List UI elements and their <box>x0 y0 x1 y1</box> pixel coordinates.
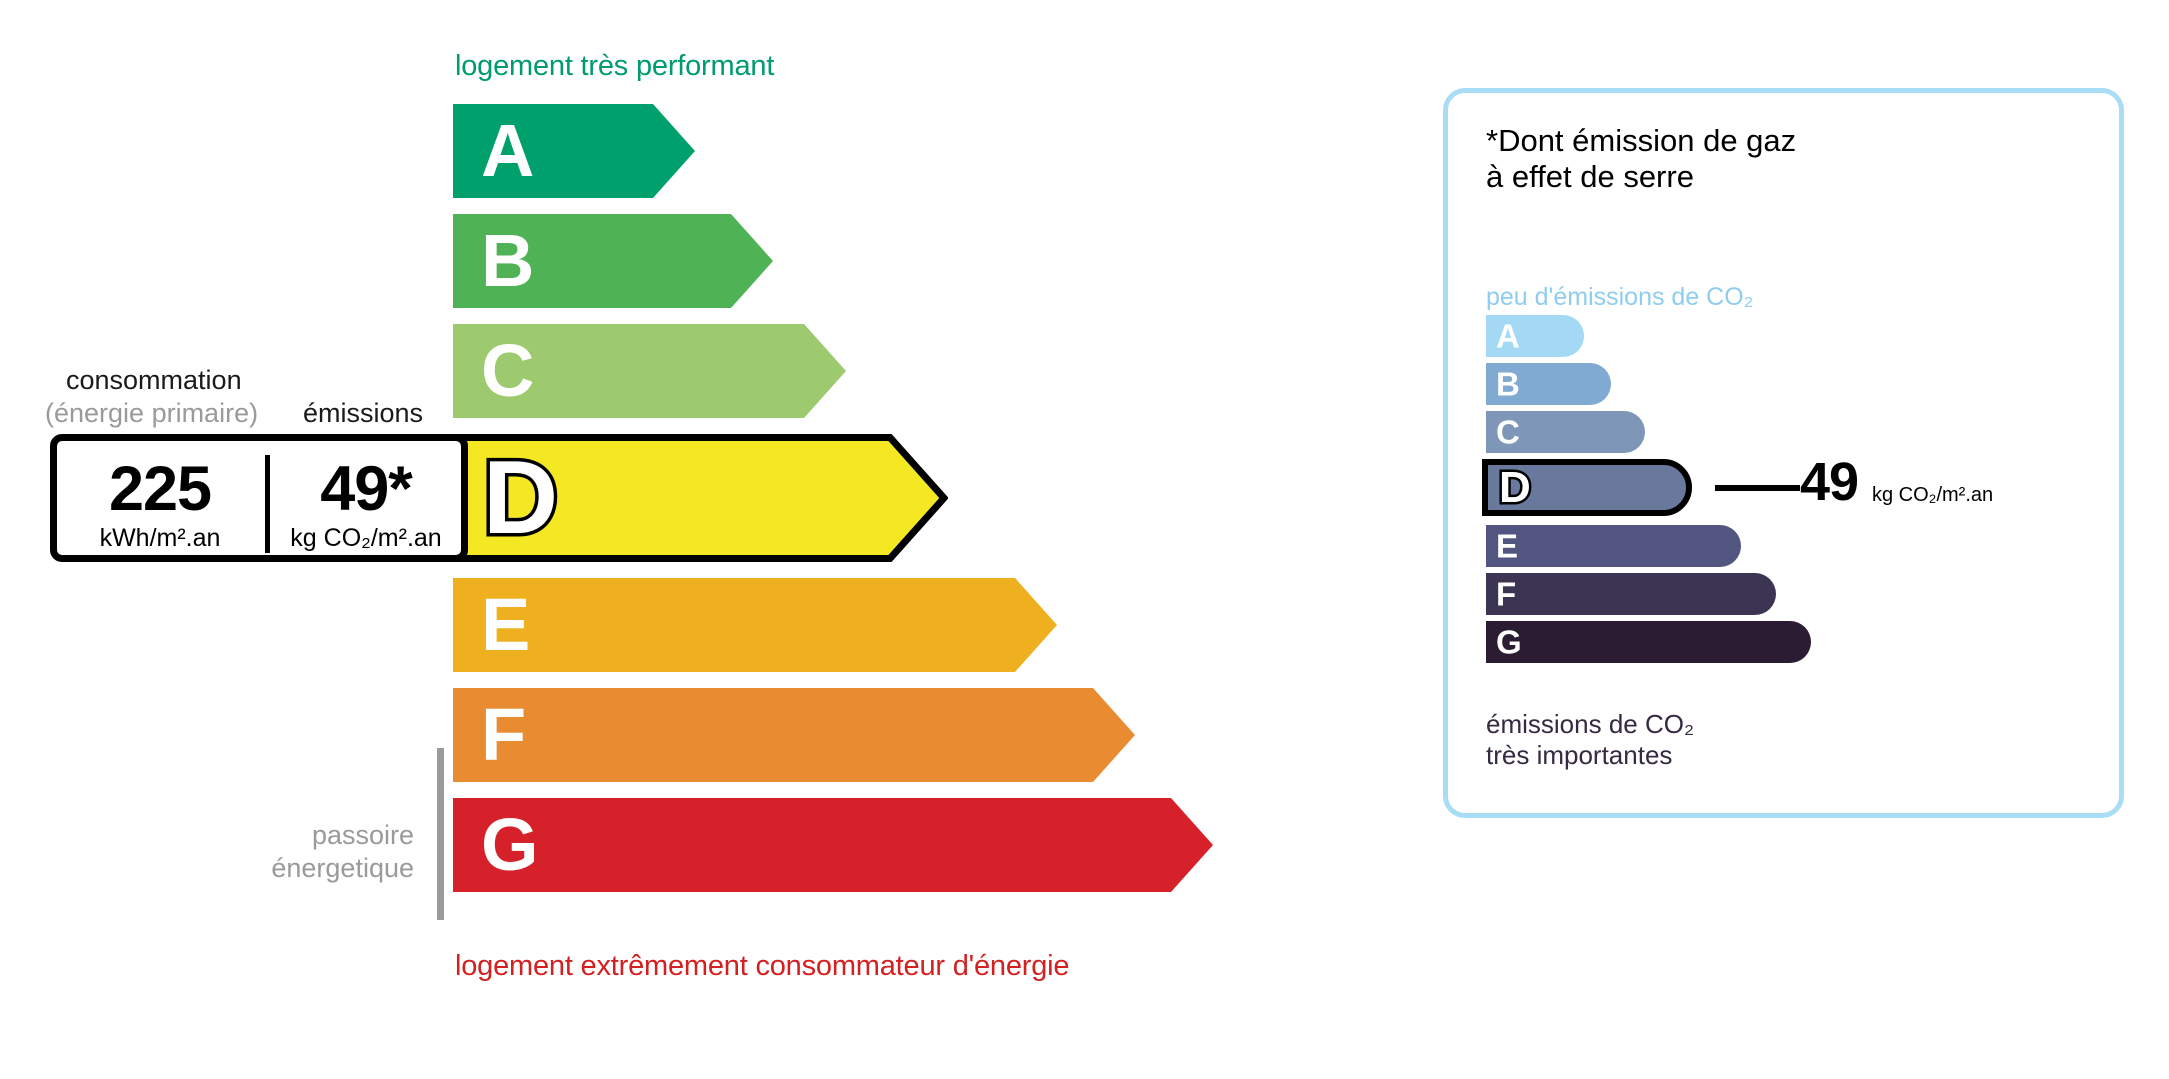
emission-unit: kg CO₂/m².an <box>269 524 463 553</box>
energy-band-b[interactable]: B <box>453 214 773 308</box>
co2-bottom-caption: émissions de CO₂ très importantes <box>1486 709 1694 770</box>
ladder-top-caption: logement très performant <box>455 50 774 83</box>
band-arrow-c-icon <box>453 324 846 418</box>
consumption-value: 225 <box>63 457 257 523</box>
consumption-unit: kWh/m².an <box>63 524 257 553</box>
passoire-bracket <box>437 748 444 920</box>
consumption-value-cell: 225 kWh/m².an <box>63 457 257 553</box>
co2-band-c[interactable]: C <box>1486 411 1645 453</box>
co2-emissions-panel: *Dont émission de gaz à effet de serre p… <box>1443 88 2124 818</box>
co2-band-d-selected[interactable]: D <box>1482 459 1692 516</box>
band-arrow-g-icon <box>453 798 1213 892</box>
energy-band-c[interactable]: C <box>453 324 846 418</box>
co2-band-a[interactable]: A <box>1486 315 1584 357</box>
band-arrow-a-icon <box>453 104 695 198</box>
label-emissions: émissions <box>303 398 423 429</box>
energy-band-f[interactable]: F <box>453 688 1135 782</box>
co2-band-letter-b: B <box>1496 368 1520 401</box>
ladder-bottom-caption: logement extrêmement consommateur d'éner… <box>455 950 1069 983</box>
co2-panel-title: *Dont émission de gaz à effet de serre <box>1486 123 1796 195</box>
co2-band-letter-f: F <box>1496 578 1516 611</box>
band-arrow-b-icon <box>453 214 773 308</box>
co2-band-b[interactable]: B <box>1486 363 1611 405</box>
emission-value: 49* <box>269 457 463 523</box>
energy-band-e[interactable]: E <box>453 578 1057 672</box>
co2-band-letter-g: G <box>1496 626 1522 659</box>
emission-value-cell: 49* kg CO₂/m².an <box>269 457 463 553</box>
co2-callout-leader-line <box>1715 485 1800 491</box>
label-energie-primaire: (énergie primaire) <box>45 398 258 429</box>
band-arrow-f-icon <box>453 688 1135 782</box>
passoire-label-line1: passoire <box>0 820 414 851</box>
band-arrow-e-icon <box>453 578 1057 672</box>
dpe-energy-ladder: logement très performant A B C D E <box>0 0 1380 1079</box>
label-consommation: consommation <box>66 365 242 396</box>
energy-band-a[interactable]: A <box>453 104 695 198</box>
co2-band-letter-e: E <box>1496 530 1518 563</box>
co2-band-e[interactable]: E <box>1486 525 1741 567</box>
co2-top-caption: peu d'émissions de CO₂ <box>1486 283 1753 312</box>
co2-band-letter-c: C <box>1496 416 1520 449</box>
band-arrow-d-icon <box>453 434 948 562</box>
energy-band-g[interactable]: G <box>453 798 1213 892</box>
passoire-label-line2: énergetique <box>0 853 414 884</box>
co2-band-letter-d: D <box>1499 466 1531 510</box>
dpe-value-box: 225 kWh/m².an 49* kg CO₂/m².an <box>50 434 468 562</box>
energy-band-d-selected[interactable]: D <box>453 434 948 562</box>
co2-band-f[interactable]: F <box>1486 573 1776 615</box>
co2-band-letter-a: A <box>1496 320 1520 353</box>
co2-band-g[interactable]: G <box>1486 621 1811 663</box>
co2-callout-value: 49 <box>1800 455 1858 509</box>
co2-callout-unit: kg CO₂/m².an <box>1872 484 1993 507</box>
